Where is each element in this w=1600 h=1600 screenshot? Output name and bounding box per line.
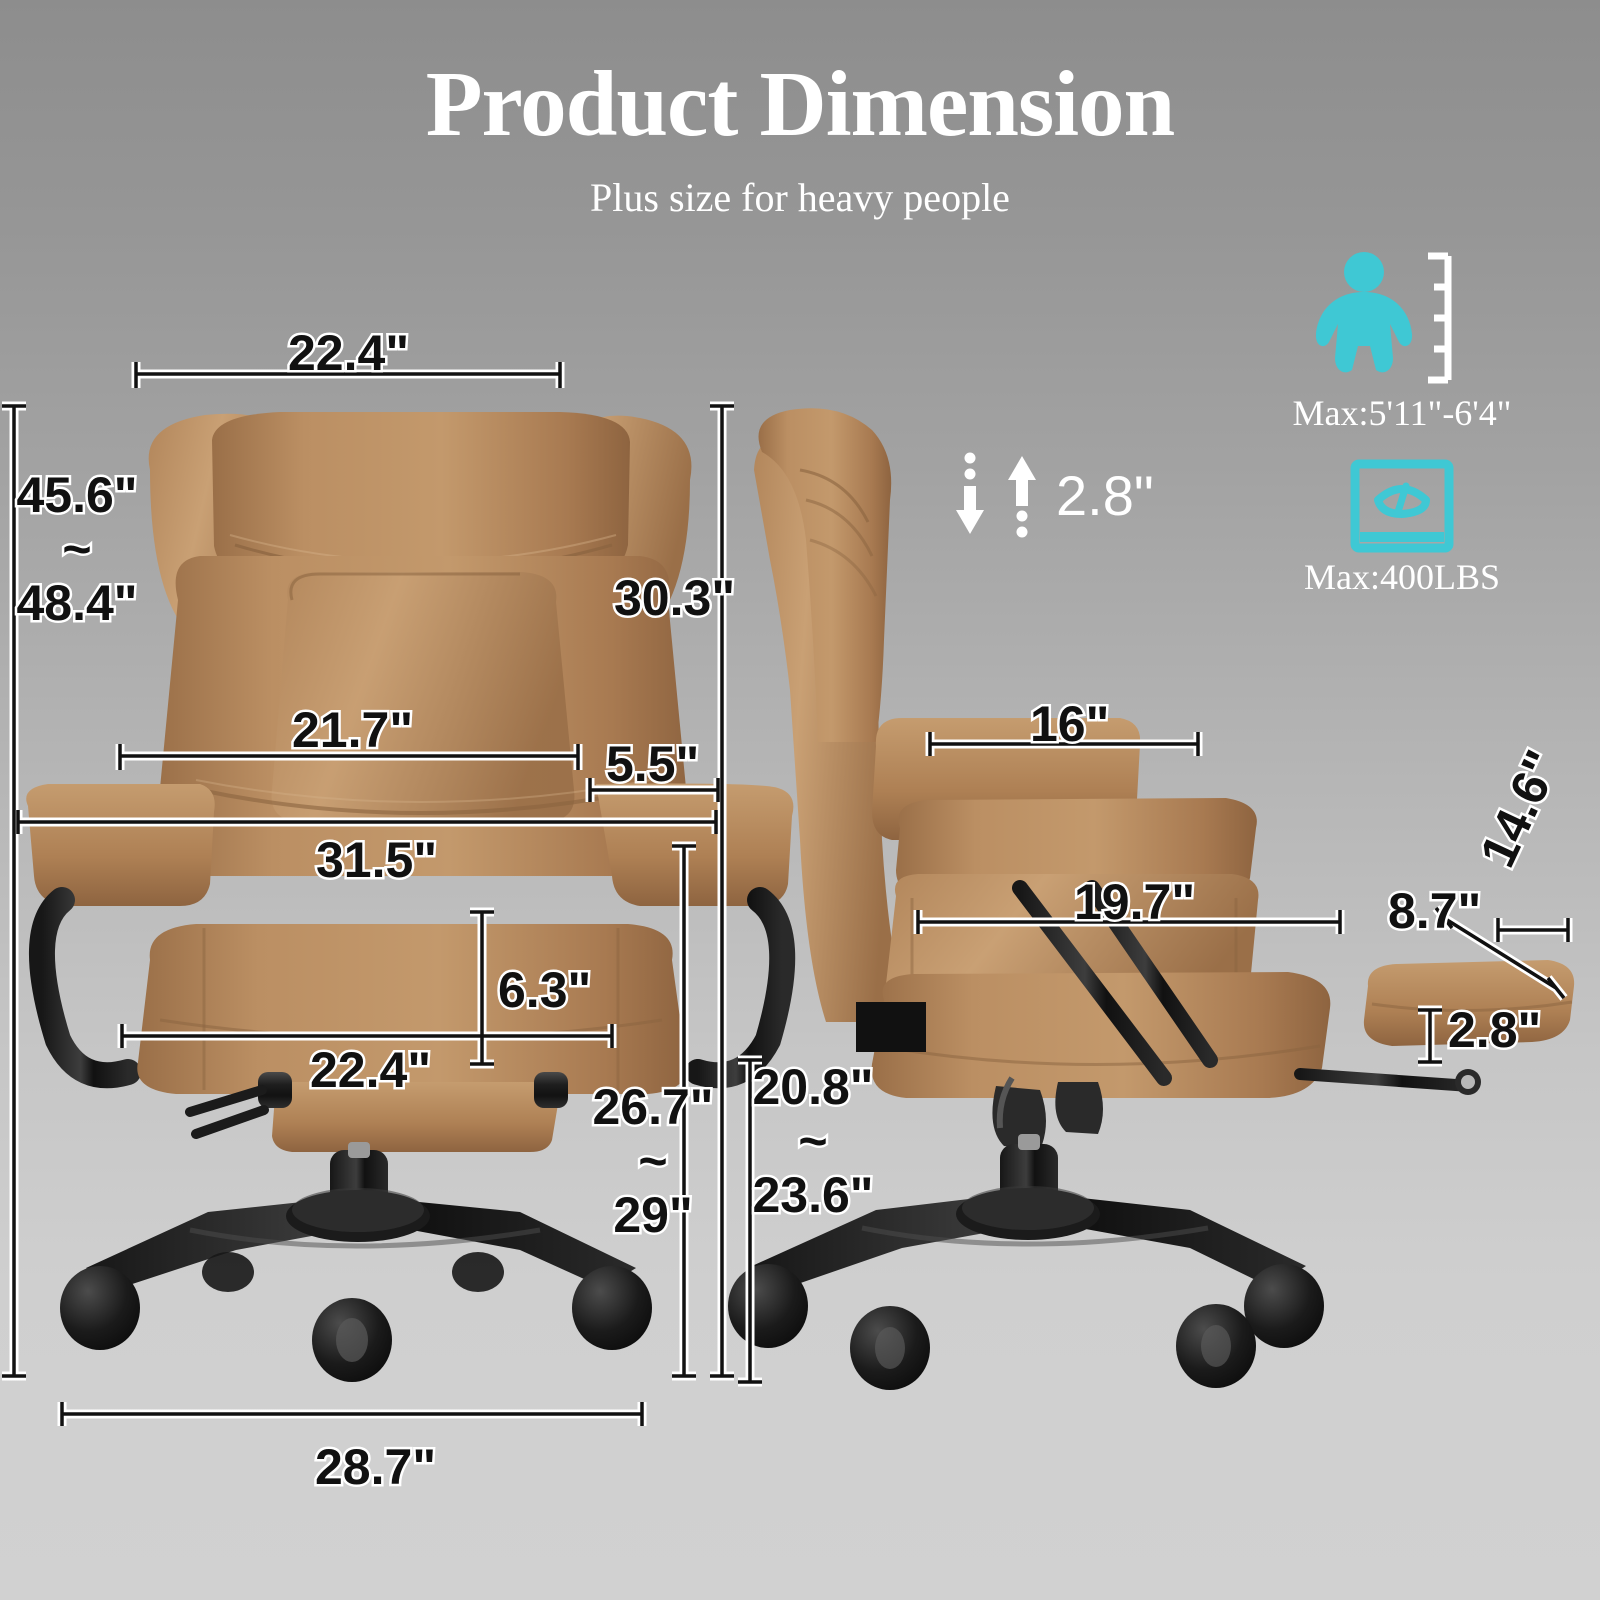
dim-seat-height-line1: 26.7" bbox=[588, 1080, 718, 1134]
dim-seat-height-line2: 29" bbox=[588, 1188, 718, 1242]
dim-seat-height: 26.7" ~ 29" bbox=[588, 1080, 718, 1242]
dim-backrest-width: 21.7" bbox=[292, 703, 413, 757]
weight-scale-icon bbox=[1348, 458, 1456, 554]
max-height-badge: Max:5'11"-6'4" bbox=[1222, 250, 1582, 434]
infographic-canvas: Product Dimension Plus size for heavy pe… bbox=[0, 0, 1600, 1600]
product-illustration bbox=[0, 0, 1600, 1600]
dim-overall-height-tilde: ~ bbox=[12, 522, 142, 576]
dim-seat-depth: 19.7" bbox=[1074, 875, 1195, 929]
dim-overall-width-arms: 31.5" bbox=[316, 833, 437, 887]
dim-footrest-thickness: 2.8" bbox=[1448, 1003, 1541, 1057]
dim-seat-height-tilde: ~ bbox=[588, 1134, 718, 1188]
dim-seat-width: 22.4" bbox=[310, 1043, 431, 1097]
dim-seat-depth-top: 16" bbox=[1030, 697, 1109, 751]
dim-footrest-gap: 8.7" bbox=[1388, 884, 1481, 938]
height-adjust-indicator: 2.8" bbox=[950, 452, 1154, 538]
max-weight-caption: Max:400LBS bbox=[1222, 558, 1582, 598]
dim-overall-height-line2: 48.4" bbox=[12, 576, 142, 630]
dim-seat-back-height: 30.3" bbox=[614, 571, 735, 625]
max-weight-badge: Max:400LBS bbox=[1222, 458, 1582, 598]
adjust-value: 2.8" bbox=[1056, 463, 1154, 528]
dim-seat-thickness: 6.3" bbox=[498, 963, 591, 1017]
dim-armrest-width: 5.5" bbox=[606, 737, 699, 791]
max-height-caption: Max:5'11"-6'4" bbox=[1222, 394, 1582, 434]
dim-overall-height-line1: 45.6" bbox=[12, 468, 142, 522]
dim-base-diameter: 28.7" bbox=[315, 1440, 436, 1494]
dim-seat-height-range-tilde: ~ bbox=[748, 1114, 878, 1168]
up-down-arrow-icon bbox=[950, 452, 1042, 538]
dim-seat-height-range: 20.8" ~ 23.6" bbox=[748, 1060, 878, 1222]
dim-overall-height: 45.6" ~ 48.4" bbox=[12, 468, 142, 630]
dim-seat-height-range-line2: 23.6" bbox=[748, 1168, 878, 1222]
dim-backrest-width-top: 22.4" bbox=[288, 326, 409, 380]
person-height-icon bbox=[1302, 250, 1502, 390]
dim-seat-height-range-line1: 20.8" bbox=[748, 1060, 878, 1114]
